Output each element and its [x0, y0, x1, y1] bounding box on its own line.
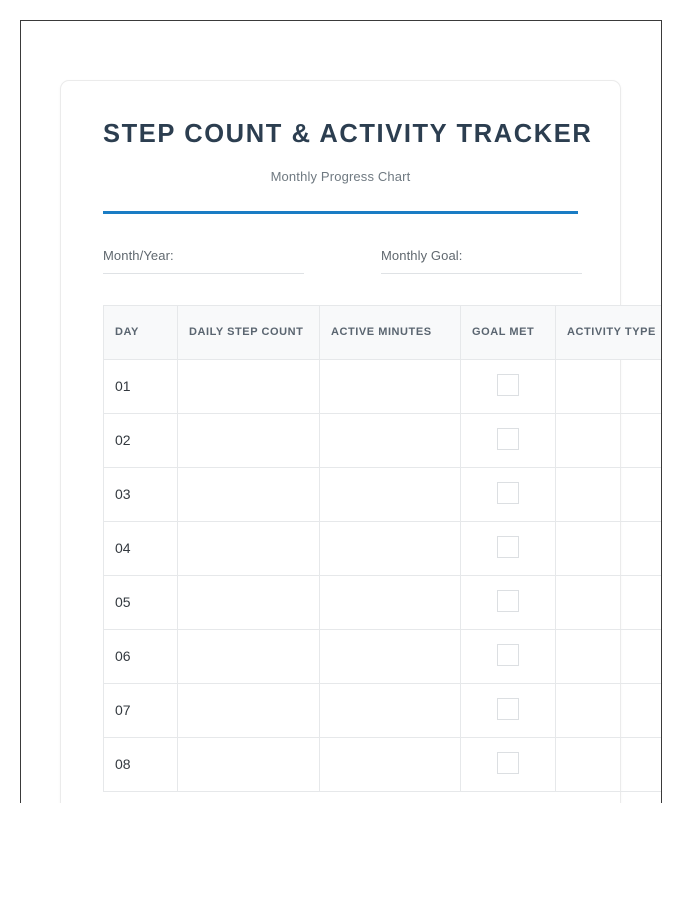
goal-met-checkbox[interactable]	[497, 428, 519, 450]
table-row: 08	[104, 737, 663, 791]
cell-day: 01	[104, 359, 178, 413]
cell-activity-type[interactable]	[556, 737, 663, 791]
cell-daily-step-count[interactable]	[178, 359, 320, 413]
cell-day: 03	[104, 467, 178, 521]
cell-goal-met	[461, 737, 556, 791]
cell-goal-met	[461, 683, 556, 737]
cell-active-minutes[interactable]	[320, 575, 461, 629]
cell-activity-type[interactable]	[556, 521, 663, 575]
cell-day: 07	[104, 683, 178, 737]
goal-met-checkbox[interactable]	[497, 644, 519, 666]
cell-active-minutes[interactable]	[320, 467, 461, 521]
cell-daily-step-count[interactable]	[178, 629, 320, 683]
table-row: 04	[104, 521, 663, 575]
cell-goal-met	[461, 521, 556, 575]
cell-activity-type[interactable]	[556, 467, 663, 521]
table-row: 07	[104, 683, 663, 737]
cell-active-minutes[interactable]	[320, 521, 461, 575]
cell-day: 05	[104, 575, 178, 629]
cell-daily-step-count[interactable]	[178, 521, 320, 575]
column-header-goal-met: GOAL MET	[461, 305, 556, 359]
form-field-row: Month/Year: Monthly Goal:	[103, 247, 578, 274]
cell-active-minutes[interactable]	[320, 737, 461, 791]
goal-met-checkbox[interactable]	[497, 482, 519, 504]
table-row: 02	[104, 413, 663, 467]
goal-met-checkbox[interactable]	[497, 536, 519, 558]
cell-day: 08	[104, 737, 178, 791]
cell-active-minutes[interactable]	[320, 683, 461, 737]
cell-goal-met	[461, 629, 556, 683]
cell-goal-met	[461, 575, 556, 629]
goal-met-checkbox[interactable]	[497, 752, 519, 774]
table-row: 01	[104, 359, 663, 413]
cell-daily-step-count[interactable]	[178, 467, 320, 521]
cell-activity-type[interactable]	[556, 575, 663, 629]
page-subtitle: Monthly Progress Chart	[103, 169, 578, 184]
cell-active-minutes[interactable]	[320, 413, 461, 467]
cell-day: 04	[104, 521, 178, 575]
document-viewport: STEP COUNT & ACTIVITY TRACKER Monthly Pr…	[20, 20, 662, 803]
monthly-goal-field[interactable]: Monthly Goal:	[381, 247, 582, 274]
monthly-goal-label: Monthly Goal:	[381, 248, 463, 263]
cell-goal-met	[461, 467, 556, 521]
cell-daily-step-count[interactable]	[178, 737, 320, 791]
page-title: STEP COUNT & ACTIVITY TRACKER	[103, 119, 578, 150]
cell-daily-step-count[interactable]	[178, 575, 320, 629]
month-year-label: Month/Year:	[103, 248, 174, 263]
cell-goal-met	[461, 413, 556, 467]
cell-active-minutes[interactable]	[320, 359, 461, 413]
goal-met-checkbox[interactable]	[497, 590, 519, 612]
column-header-day: DAY	[104, 305, 178, 359]
cell-activity-type[interactable]	[556, 629, 663, 683]
column-header-activity-type: ACTIVITY TYPE	[556, 305, 663, 359]
cell-activity-type[interactable]	[556, 413, 663, 467]
table-body: 0102030405060708	[104, 359, 663, 791]
column-header-daily-step-count: DAILY STEP COUNT	[178, 305, 320, 359]
table-row: 05	[104, 575, 663, 629]
month-year-field[interactable]: Month/Year:	[103, 247, 304, 274]
cell-day: 02	[104, 413, 178, 467]
cell-active-minutes[interactable]	[320, 629, 461, 683]
table-row: 03	[104, 467, 663, 521]
column-header-active-minutes: ACTIVE MINUTES	[320, 305, 461, 359]
title-accent-divider	[103, 211, 578, 214]
activity-tracker-table: DAY DAILY STEP COUNT ACTIVE MINUTES GOAL…	[103, 305, 662, 792]
cell-daily-step-count[interactable]	[178, 683, 320, 737]
goal-met-checkbox[interactable]	[497, 374, 519, 396]
cell-activity-type[interactable]	[556, 359, 663, 413]
tracker-sheet: STEP COUNT & ACTIVITY TRACKER Monthly Pr…	[60, 80, 621, 803]
cell-day: 06	[104, 629, 178, 683]
cell-activity-type[interactable]	[556, 683, 663, 737]
table-header-row: DAY DAILY STEP COUNT ACTIVE MINUTES GOAL…	[104, 305, 663, 359]
table-row: 06	[104, 629, 663, 683]
cell-goal-met	[461, 359, 556, 413]
goal-met-checkbox[interactable]	[497, 698, 519, 720]
cell-daily-step-count[interactable]	[178, 413, 320, 467]
